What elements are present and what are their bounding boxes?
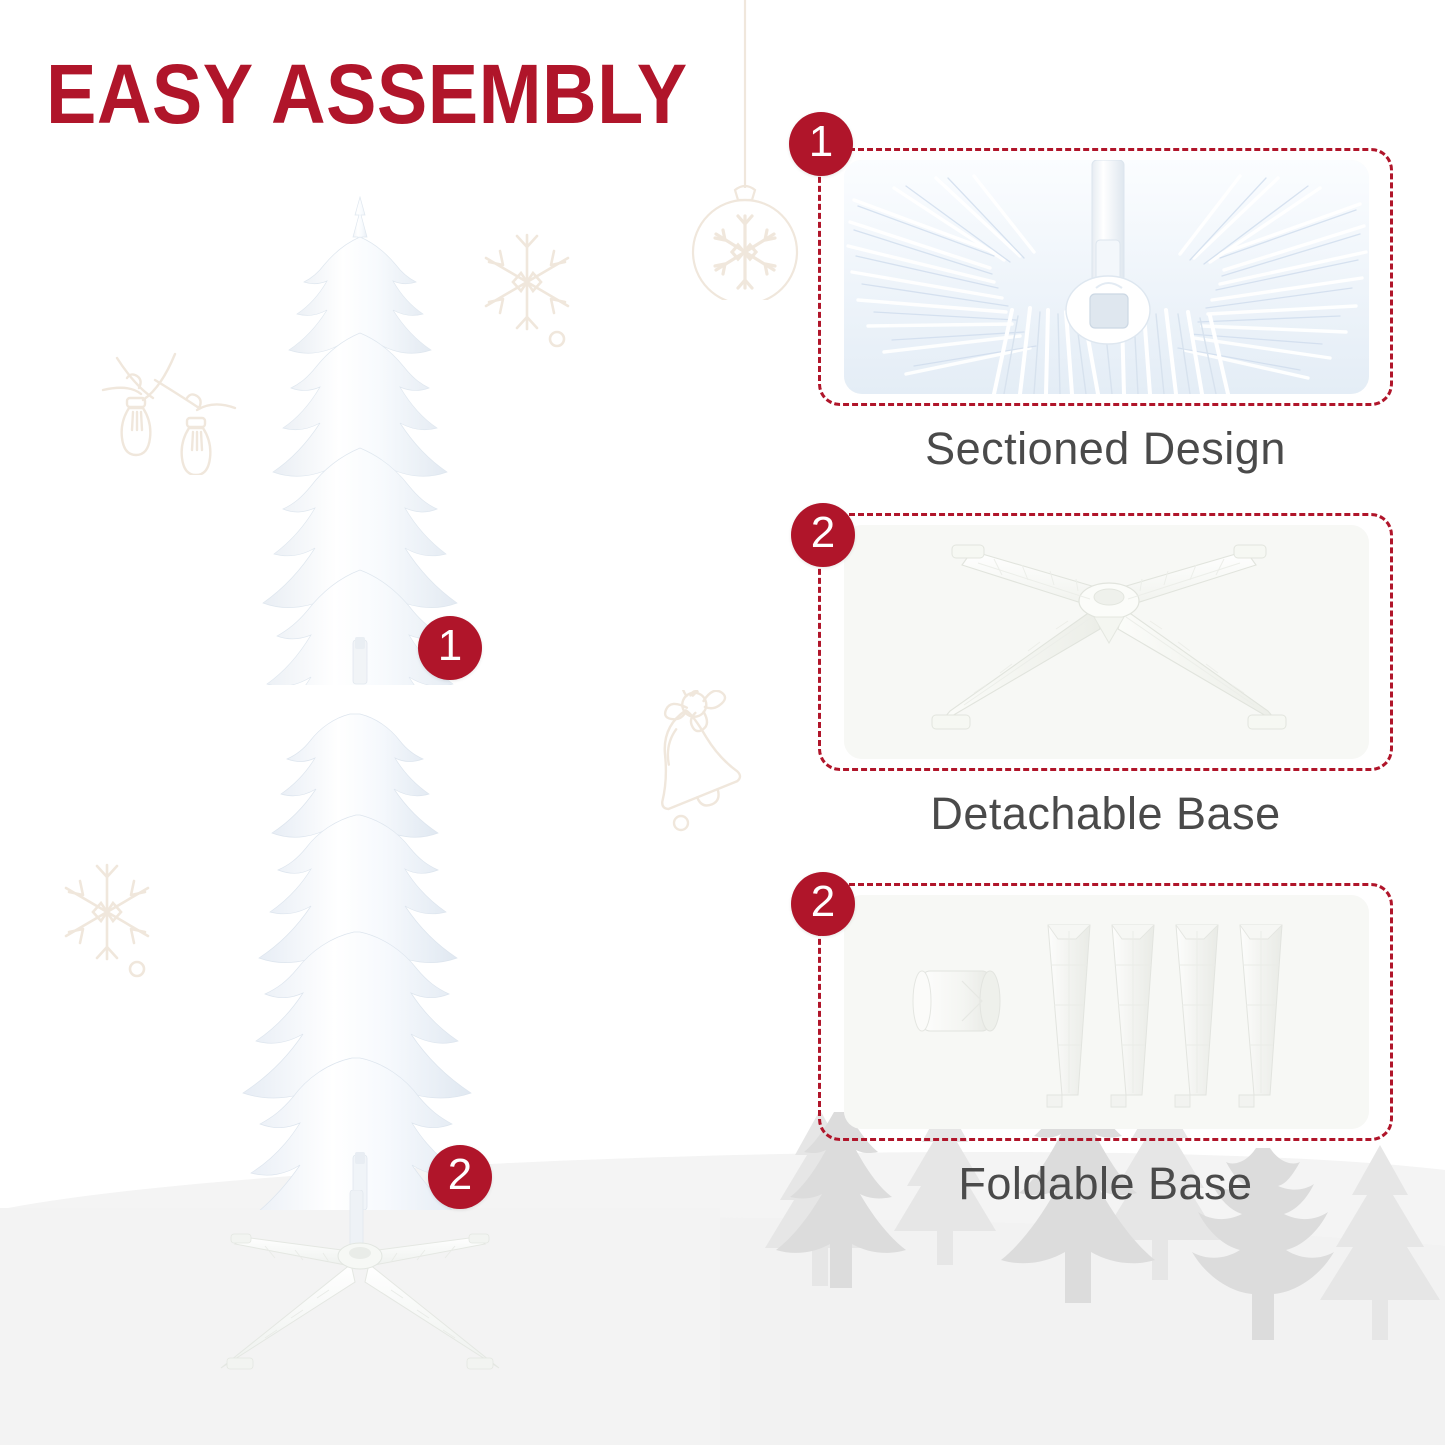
callout-2-badge-number: 2 — [811, 511, 835, 555]
callout-foldable-base: Foldable Base — [818, 883, 1393, 1223]
callout-sectioned-design: Sectioned Design — [818, 148, 1393, 488]
callout-3-label: Foldable Base — [818, 1158, 1393, 1210]
bell-icon — [640, 690, 770, 835]
callout-1-photo — [844, 160, 1369, 394]
callout-detachable-base: Detachable Base — [818, 513, 1393, 853]
callout-1-badge-number: 1 — [809, 120, 833, 164]
callout-1-label: Sectioned Design — [818, 423, 1393, 475]
lower-tree-section — [185, 700, 535, 1210]
tree-stand-base — [205, 1190, 515, 1410]
upper-tree-section — [205, 185, 515, 685]
page-title: EASY ASSEMBLY — [46, 52, 688, 136]
callout-1-badge: 1 — [789, 112, 853, 176]
callout-3-badge-number: 2 — [811, 880, 835, 924]
callout-2-photo — [844, 525, 1369, 759]
callout-2-badge: 2 — [791, 503, 855, 567]
callout-3-photo — [844, 895, 1369, 1129]
foldable-base-photo — [844, 895, 1369, 1129]
callout-3-badge: 2 — [791, 872, 855, 936]
tree-badge-1-number: 1 — [438, 624, 462, 668]
foldable-hub — [913, 971, 1000, 1031]
callout-2-label: Detachable Base — [818, 788, 1393, 840]
infographic-canvas: EASY ASSEMBLY 1 — [0, 0, 1445, 1445]
snowflake-watermark-left — [55, 855, 165, 985]
detachable-base-photo — [844, 525, 1369, 759]
tree-badge-2: 2 — [428, 1145, 492, 1209]
tree-badge-1: 1 — [418, 616, 482, 680]
tree-badge-2-number: 2 — [448, 1153, 472, 1197]
branch-connector-photo — [844, 160, 1369, 394]
